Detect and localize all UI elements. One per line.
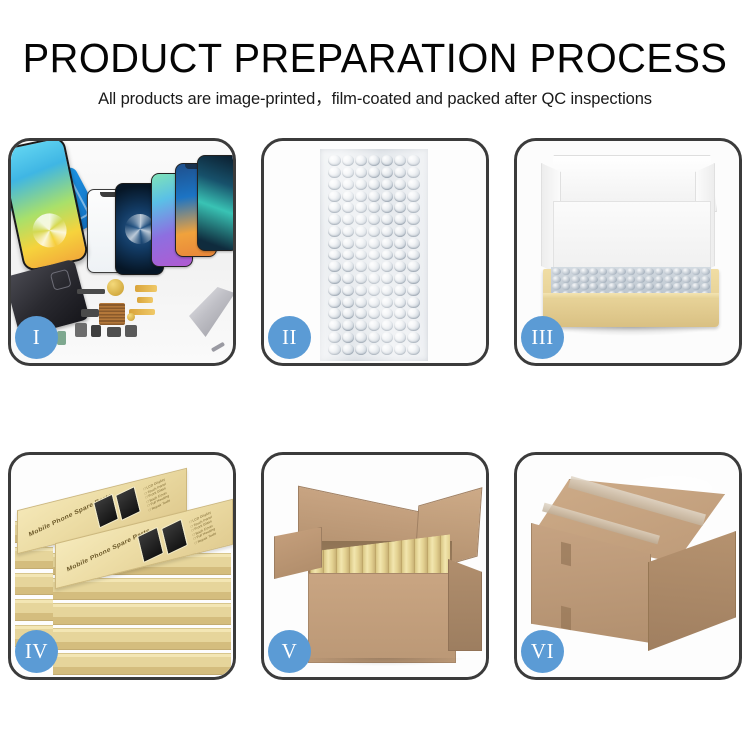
bubble [328, 261, 340, 272]
sim-tray-part [107, 327, 121, 337]
bubble [328, 320, 340, 331]
bubble [342, 320, 354, 331]
bubble [664, 283, 673, 290]
bubble [381, 308, 393, 319]
bubble [342, 226, 354, 237]
bubble [407, 285, 419, 296]
bubble [355, 320, 367, 331]
process-step-panel-5: V [261, 452, 489, 680]
bubble [342, 214, 354, 225]
bubble [394, 273, 406, 284]
bubble [368, 320, 380, 331]
bubble [394, 191, 406, 202]
earpiece-speaker-part [77, 289, 105, 294]
bubble [407, 179, 419, 190]
bubble [407, 332, 419, 343]
bubble [394, 214, 406, 225]
bubble [342, 167, 354, 178]
bubble [552, 268, 561, 275]
bubble [407, 320, 419, 331]
bubble [589, 276, 598, 283]
bubble [368, 250, 380, 261]
bubble [342, 297, 354, 308]
bubble [394, 226, 406, 237]
process-step-grid: I II III [8, 138, 742, 680]
bubble [342, 285, 354, 296]
bubble [571, 283, 580, 290]
bubble [355, 167, 367, 178]
carton-front-face [308, 573, 456, 663]
bubble [342, 261, 354, 272]
process-step-panel-2: II [261, 138, 489, 366]
header: PRODUCT PREPARATION PROCESS All products… [0, 0, 750, 109]
bubble [407, 167, 419, 178]
bubble [655, 276, 664, 283]
button-part [125, 325, 137, 337]
bubble [608, 276, 617, 283]
bubble [328, 238, 340, 249]
process-step-panel-4: Mobile Phone Spare Parts □ LCD Display□ … [8, 452, 236, 680]
step-badge-4: IV [15, 630, 58, 673]
drop-shadow [304, 658, 464, 666]
step-badge-2: II [268, 316, 311, 359]
bubble [342, 332, 354, 343]
flex-cable-part [137, 297, 153, 303]
bubble [342, 273, 354, 284]
bubble [342, 155, 354, 166]
step-badge-5: V [268, 630, 311, 673]
box-checklist: □ LCD Display□ Touch Panel□ Front Glass□… [189, 510, 216, 546]
bubble [627, 276, 636, 283]
bubble [355, 250, 367, 261]
drop-shadow [547, 327, 715, 336]
step-badge-3: III [521, 316, 564, 359]
bubble [394, 238, 406, 249]
bubble [355, 273, 367, 284]
bubble [328, 167, 340, 178]
bubble [394, 332, 406, 343]
process-step-panel-6: VI [514, 452, 742, 680]
bubble [655, 268, 664, 275]
bubble [381, 214, 393, 225]
retail-box-slice [53, 628, 231, 650]
phone-teal [197, 155, 233, 251]
bubble [655, 283, 664, 290]
bubble [355, 179, 367, 190]
bubble [342, 308, 354, 319]
bubble [673, 276, 682, 283]
bubble [381, 332, 393, 343]
bubble [394, 320, 406, 331]
bubble [617, 268, 626, 275]
bubble [407, 226, 419, 237]
bubble [342, 238, 354, 249]
bubble [342, 344, 354, 355]
bubble [589, 283, 598, 290]
bubble [381, 250, 393, 261]
bubble [328, 191, 340, 202]
bubble [627, 268, 636, 275]
bubble [599, 276, 608, 283]
bubble [381, 320, 393, 331]
bubble [368, 191, 380, 202]
bubble [368, 261, 380, 272]
retail-box-slice [15, 573, 53, 595]
bubble [407, 238, 419, 249]
bubble [368, 344, 380, 355]
bubble [682, 276, 691, 283]
bubble [381, 297, 393, 308]
bubble [381, 261, 393, 272]
bubble [342, 202, 354, 213]
bubble [394, 261, 406, 272]
bubble [368, 308, 380, 319]
bubble [407, 155, 419, 166]
vibration-motor-part [107, 279, 124, 296]
bubble [394, 179, 406, 190]
bubble [381, 179, 393, 190]
box-screen-artwork [161, 519, 188, 555]
bubble [571, 276, 580, 283]
bubble [562, 268, 571, 275]
bubble [355, 155, 367, 166]
process-step-panel-3: III [514, 138, 742, 366]
bubble [368, 202, 380, 213]
bubble [394, 250, 406, 261]
camera-module-part [75, 323, 87, 337]
bubble [407, 261, 419, 272]
bubble [580, 276, 589, 283]
bubble [682, 268, 691, 275]
process-step-panel-1: I [8, 138, 236, 366]
bubble [599, 283, 608, 290]
bubble [355, 238, 367, 249]
battery-part [57, 331, 66, 345]
bubble [368, 238, 380, 249]
bubble [645, 276, 654, 283]
bubble [636, 276, 645, 283]
carton-seam [561, 542, 571, 566]
retail-box-slice [53, 653, 231, 675]
retail-box-slice [15, 599, 53, 621]
bubble [328, 308, 340, 319]
camera-module-part [91, 325, 101, 337]
bubble [608, 268, 617, 275]
bubble [394, 297, 406, 308]
bubble [342, 179, 354, 190]
bubble [328, 297, 340, 308]
bubble [355, 226, 367, 237]
bubble [368, 332, 380, 343]
logic-board-chip [99, 303, 125, 325]
bubble [328, 332, 340, 343]
flex-cable-part [135, 285, 157, 292]
bubble [589, 268, 598, 275]
bubble [617, 276, 626, 283]
bubble [394, 202, 406, 213]
bubble [636, 283, 645, 290]
box-checklist: □ LCD Display□ Touch Panel□ Front Glass□… [143, 477, 170, 513]
bubble [381, 167, 393, 178]
bubble [342, 191, 354, 202]
bubble [701, 268, 710, 275]
bubble [394, 155, 406, 166]
bubble [394, 167, 406, 178]
bubble [636, 268, 645, 275]
bubble [328, 179, 340, 190]
step-badge-6: VI [521, 630, 564, 673]
bubble [368, 285, 380, 296]
bubble [381, 202, 393, 213]
bubble [381, 191, 393, 202]
bubble [368, 179, 380, 190]
bubble [328, 344, 340, 355]
bubble [355, 191, 367, 202]
bubble [617, 283, 626, 290]
bubble [328, 214, 340, 225]
bubble [328, 285, 340, 296]
bubble [407, 202, 419, 213]
bubble [608, 283, 617, 290]
bubble [368, 297, 380, 308]
bubble [682, 283, 691, 290]
bubble [407, 308, 419, 319]
bubble [580, 283, 589, 290]
carton-side-face [448, 559, 482, 651]
bubble [381, 344, 393, 355]
bubble [599, 268, 608, 275]
bubble [381, 238, 393, 249]
bubble [328, 273, 340, 284]
bubble [701, 283, 710, 290]
bubble [368, 167, 380, 178]
bubble [692, 268, 701, 275]
bubble [355, 202, 367, 213]
bubble [394, 344, 406, 355]
bubble [355, 214, 367, 225]
bubble [627, 283, 636, 290]
bubble [407, 273, 419, 284]
step-badge-1: I [15, 316, 58, 359]
bubble [645, 283, 654, 290]
bubble [368, 155, 380, 166]
page-subtitle: All products are image-printed，film-coat… [0, 80, 750, 109]
bubble [355, 332, 367, 343]
bubble [381, 285, 393, 296]
bubble [394, 308, 406, 319]
bubble [355, 285, 367, 296]
bubble [355, 308, 367, 319]
bubble [368, 273, 380, 284]
bubble [381, 273, 393, 284]
bubble [673, 268, 682, 275]
bubble [407, 250, 419, 261]
bubble [328, 202, 340, 213]
bubble [562, 283, 571, 290]
bubble [394, 285, 406, 296]
bubble [407, 344, 419, 355]
bubble [664, 276, 673, 283]
bubble [692, 283, 701, 290]
bubble [552, 283, 561, 290]
bubble [355, 297, 367, 308]
bubble [368, 214, 380, 225]
bubble [328, 155, 340, 166]
bubble [328, 250, 340, 261]
bubble [407, 297, 419, 308]
bubble [407, 191, 419, 202]
retail-box-slice [53, 603, 231, 625]
bubble [355, 261, 367, 272]
bubble [381, 155, 393, 166]
box-tray-rim [543, 293, 719, 299]
bubble [571, 268, 580, 275]
bubble-grid [328, 155, 420, 355]
bubble [381, 226, 393, 237]
bubble [701, 276, 710, 283]
bubble [673, 283, 682, 290]
bubble [355, 344, 367, 355]
page-title: PRODUCT PREPARATION PROCESS [11, 0, 739, 80]
bubble [664, 268, 673, 275]
bubble [692, 276, 701, 283]
carton-seam [561, 606, 571, 630]
bubble [562, 276, 571, 283]
bubble [645, 268, 654, 275]
bubble [342, 250, 354, 261]
box-screen-artwork [115, 486, 141, 521]
bubble [407, 214, 419, 225]
screw-part [127, 313, 135, 321]
connector-part [81, 309, 99, 317]
bubble [328, 226, 340, 237]
bubble [580, 268, 589, 275]
bubble [368, 226, 380, 237]
bubble-wrap-sheet [320, 149, 428, 361]
bubble [552, 276, 561, 283]
